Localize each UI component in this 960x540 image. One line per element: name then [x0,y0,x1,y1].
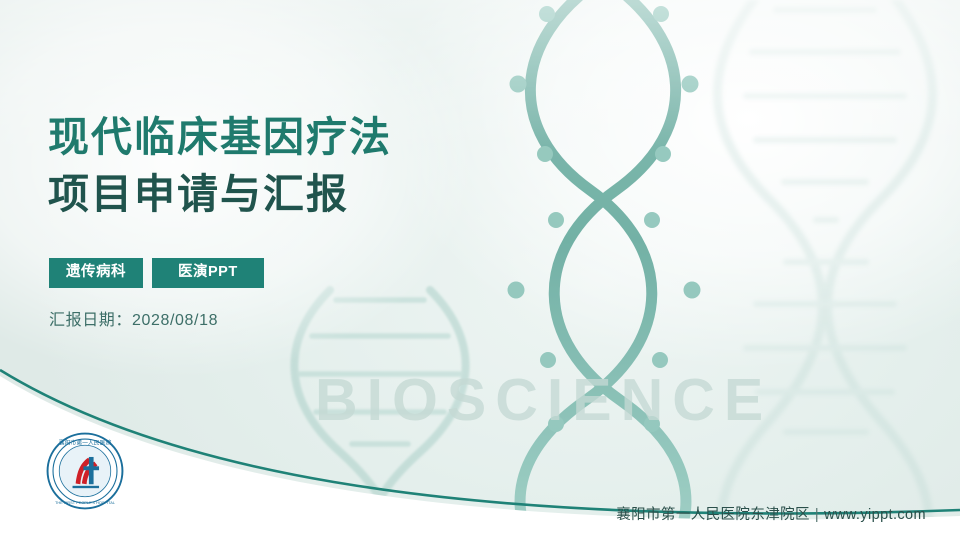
footer-organization: 襄阳市第一人民医院东津院区 [616,507,810,523]
page-title: 现代临床基因疗法 项目申请与汇报 [48,110,568,223]
tag-department[interactable]: 遗传病科 [49,258,143,288]
svg-text:THE FIRST PEOPLE'S HOSPITAL: THE FIRST PEOPLE'S HOSPITAL [55,500,116,505]
tag-brand[interactable]: 医演PPT [152,258,264,288]
footer-separator: | [815,507,819,523]
footer: 襄阳市第一人民医院东津院区|www.yippt.com [616,503,926,524]
footer-website[interactable]: www.yippt.com [824,507,926,523]
title-line-2: 项目申请与汇报 [48,167,568,222]
tag-group: 遗传病科 医演PPT [49,258,264,288]
report-date-label: 汇报日期：2028/08/18 [49,306,218,330]
title-line-1: 现代临床基因疗法 [48,110,568,165]
hospital-logo-icon: 襄阳市第一人民医院 THE FIRST PEOPLE'S HOSPITAL [46,432,124,510]
presentation-slide: BIOSCIENCE 现代临床基因疗法 项目申请与汇报 遗传病科 医演PPT 汇… [0,0,960,540]
